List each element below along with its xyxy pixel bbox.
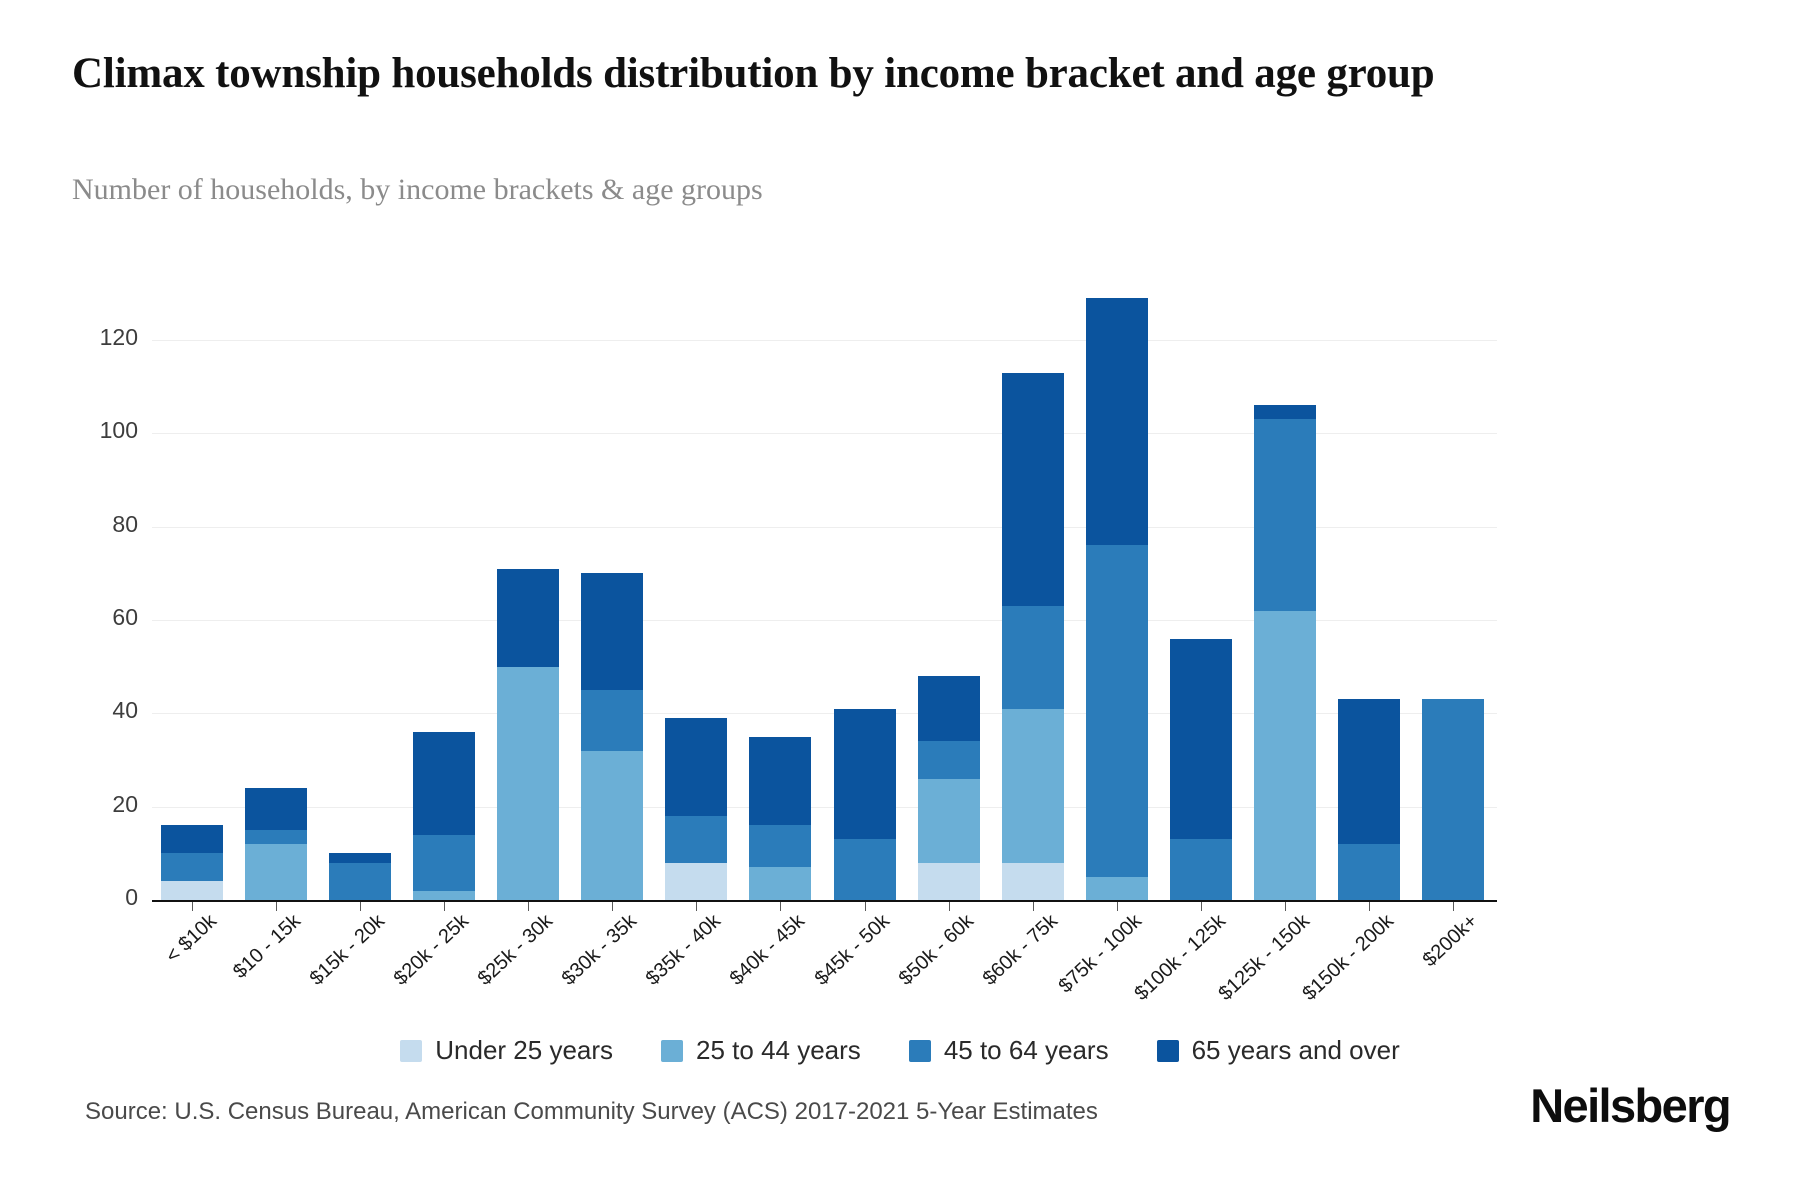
legend-item[interactable]: 25 to 44 years	[661, 1035, 861, 1066]
gridline	[152, 340, 1497, 341]
bar-column[interactable]	[749, 737, 811, 900]
bar-segment[interactable]	[1002, 606, 1064, 709]
x-axis-tick	[1117, 902, 1118, 911]
legend-item-label: 45 to 64 years	[944, 1035, 1109, 1066]
chart-subtitle: Number of households, by income brackets…	[72, 172, 1472, 208]
legend-item-label: Under 25 years	[435, 1035, 613, 1066]
y-axis-tick-label: 100	[68, 417, 138, 444]
bar-segment[interactable]	[834, 839, 896, 900]
bar-segment[interactable]	[329, 853, 391, 862]
y-axis-tick-label: 20	[68, 791, 138, 818]
bar-segment[interactable]	[161, 853, 223, 881]
bar-segment[interactable]	[1254, 611, 1316, 900]
bar-column[interactable]	[834, 709, 896, 900]
x-axis-tick	[696, 902, 697, 911]
page-title: Climax township households distribution …	[72, 48, 1552, 100]
x-axis-label: $15k - 20k	[306, 910, 390, 991]
x-axis-label: $25k - 30k	[474, 910, 558, 991]
bar-segment[interactable]	[1086, 298, 1148, 545]
bar-segment[interactable]	[245, 788, 307, 830]
y-axis-tick-label: 60	[68, 604, 138, 631]
bar-column[interactable]	[918, 676, 980, 900]
bar-column[interactable]	[1002, 373, 1064, 900]
x-axis-tick	[1201, 902, 1202, 911]
legend-item-label: 25 to 44 years	[696, 1035, 861, 1066]
bar-segment[interactable]	[1086, 877, 1148, 900]
x-axis-tick	[1285, 902, 1286, 911]
bar-segment[interactable]	[161, 881, 223, 900]
bar-column[interactable]	[1086, 298, 1148, 900]
bar-segment[interactable]	[665, 718, 727, 816]
x-axis-label: $30k - 35k	[558, 910, 642, 991]
y-axis-tick-label: 120	[68, 324, 138, 351]
bar-segment[interactable]	[918, 741, 980, 778]
bar-segment[interactable]	[749, 825, 811, 867]
bar-segment[interactable]	[1170, 639, 1232, 840]
bar-segment[interactable]	[1002, 709, 1064, 863]
legend-swatch-icon	[909, 1040, 931, 1062]
bar-column[interactable]	[245, 788, 307, 900]
bar-column[interactable]	[665, 718, 727, 900]
legend-item[interactable]: Under 25 years	[400, 1035, 613, 1066]
bar-column[interactable]	[1254, 405, 1316, 900]
x-axis-label: $45k - 50k	[810, 910, 894, 991]
bar-column[interactable]	[329, 853, 391, 900]
brand-logo: Neilsberg	[1530, 1078, 1730, 1133]
x-axis-label: $35k - 40k	[642, 910, 726, 991]
bar-segment[interactable]	[329, 863, 391, 900]
x-axis-tick	[444, 902, 445, 911]
bar-segment[interactable]	[918, 779, 980, 863]
bar-segment[interactable]	[834, 709, 896, 840]
x-axis-tick	[1453, 902, 1454, 911]
bar-segment[interactable]	[497, 667, 559, 900]
bar-segment[interactable]	[245, 844, 307, 900]
source-note: Source: U.S. Census Bureau, American Com…	[85, 1098, 1098, 1126]
x-axis-tick	[865, 902, 866, 911]
bar-segment[interactable]	[1254, 405, 1316, 419]
x-axis-tick	[1369, 902, 1370, 911]
bar-segment[interactable]	[1338, 699, 1400, 844]
bar-segment[interactable]	[581, 690, 643, 751]
bar-segment[interactable]	[581, 573, 643, 690]
bar-segment[interactable]	[413, 891, 475, 900]
bar-column[interactable]	[1338, 699, 1400, 900]
bar-segment[interactable]	[497, 569, 559, 667]
x-axis-label: $50k - 60k	[894, 910, 978, 991]
bar-segment[interactable]	[161, 825, 223, 853]
x-axis-tick	[1033, 902, 1034, 911]
x-axis-label: $10 - 15k	[229, 910, 306, 984]
y-axis-tick-label: 40	[68, 697, 138, 724]
bar-segment[interactable]	[245, 830, 307, 844]
legend-swatch-icon	[400, 1040, 422, 1062]
legend-item[interactable]: 65 years and over	[1157, 1035, 1400, 1066]
x-axis-tick	[780, 902, 781, 911]
bar-segment[interactable]	[1002, 863, 1064, 900]
x-axis-label: < $10k	[162, 910, 222, 968]
x-axis-label: $60k - 75k	[978, 910, 1062, 991]
bar-column[interactable]	[413, 732, 475, 900]
bar-segment[interactable]	[1170, 839, 1232, 900]
bar-column[interactable]	[581, 573, 643, 900]
bar-column[interactable]	[497, 569, 559, 900]
y-axis-tick-label: 0	[68, 884, 138, 911]
bar-segment[interactable]	[1002, 373, 1064, 606]
bar-segment[interactable]	[1086, 545, 1148, 876]
x-axis-label: $75k - 100k	[1054, 910, 1146, 998]
bar-segment[interactable]	[749, 737, 811, 826]
x-axis-tick	[612, 902, 613, 911]
legend-item[interactable]: 45 to 64 years	[909, 1035, 1109, 1066]
bar-column[interactable]	[1422, 699, 1484, 900]
x-axis-label: $20k - 25k	[390, 910, 474, 991]
x-axis-label: $40k - 45k	[726, 910, 810, 991]
bar-column[interactable]	[1170, 639, 1232, 900]
bar-segment[interactable]	[665, 863, 727, 900]
bar-segment[interactable]	[918, 676, 980, 741]
x-axis-tick	[276, 902, 277, 911]
bar-segment[interactable]	[581, 751, 643, 900]
legend-swatch-icon	[1157, 1040, 1179, 1062]
bar-segment[interactable]	[749, 867, 811, 900]
legend-swatch-icon	[661, 1040, 683, 1062]
bar-segment[interactable]	[665, 816, 727, 863]
bar-segment[interactable]	[1422, 699, 1484, 900]
y-axis-tick-label: 80	[68, 511, 138, 538]
bar-segment[interactable]	[413, 732, 475, 835]
x-axis-tick	[528, 902, 529, 911]
bar-segment[interactable]	[1338, 844, 1400, 900]
legend-item-label: 65 years and over	[1192, 1035, 1400, 1066]
x-axis-label: $200k+	[1419, 910, 1483, 972]
bar-segment[interactable]	[1254, 419, 1316, 610]
x-axis-tick	[360, 902, 361, 911]
bar-column[interactable]	[161, 825, 223, 900]
chart-legend: Under 25 years25 to 44 years45 to 64 yea…	[0, 1035, 1800, 1066]
x-axis-tick	[949, 902, 950, 911]
bar-segment[interactable]	[918, 863, 980, 900]
x-axis-line	[152, 900, 1497, 902]
x-axis-tick	[192, 902, 193, 911]
bar-segment[interactable]	[413, 835, 475, 891]
